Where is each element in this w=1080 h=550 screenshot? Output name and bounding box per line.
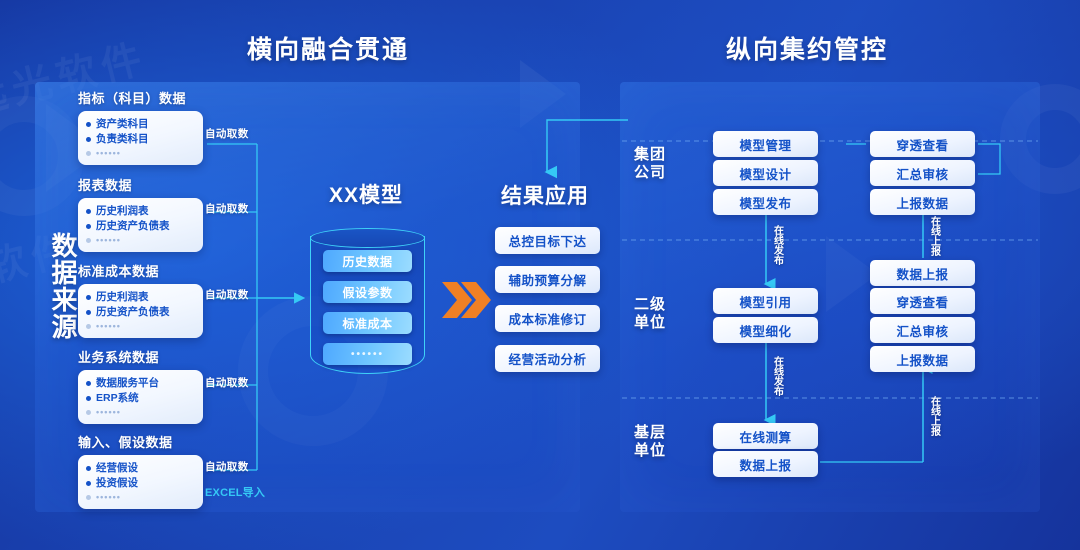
source-card[interactable]: 历史利润表 历史资产负债表 •••••• [78,198,203,252]
source-card[interactable]: 历史利润表 历史资产负债表 •••••• [78,284,203,338]
source-item-label: 历史利润表 [96,290,149,305]
source-group: 标准成本数据 历史利润表 历史资产负债表 •••••• [78,261,213,338]
bullet-icon [86,151,91,156]
source-item: 经营假设 [86,461,195,476]
source-group-title: 指标（科目）数据 [78,88,213,107]
tier-button[interactable]: 上报数据 [870,346,975,372]
flow-label-online-report: 在线上报 [928,396,939,436]
auto-fetch-label: 自动取数 [205,375,249,390]
source-item: 投资假设 [86,476,195,491]
tier-label-group-company: 集团 公司 [628,146,672,181]
result-button[interactable]: 总控目标下达 [495,227,600,254]
tier-button[interactable]: 穿透查看 [870,131,975,157]
source-item-label: 历史资产负债表 [96,305,170,320]
result-button[interactable]: 辅助预算分解 [495,266,600,293]
auto-fetch-label: 自动取数 [205,201,249,216]
model-chip[interactable]: 历史数据 [323,250,412,272]
auto-fetch-label: 自动取数 [205,287,249,302]
source-group-title: 输入、假设数据 [78,432,213,451]
tier-button[interactable]: 在线测算 [713,423,818,449]
source-item-label: •••••• [96,320,121,333]
source-item: 数据服务平台 [86,376,195,391]
source-group: 输入、假设数据 经营假设 投资假设 •••••• [78,432,213,509]
source-item: ERP系统 [86,391,195,406]
source-group: 指标（科目）数据 资产类科目 负责类科目 •••••• [78,88,213,165]
panel-vertical-control [620,82,1040,512]
bullet-icon [86,410,91,415]
source-item-label: •••••• [96,147,121,160]
result-button[interactable]: 成本标准修订 [495,305,600,332]
bullet-icon [86,310,91,315]
bullet-icon [86,224,91,229]
model-chip[interactable]: 标准成本 [323,312,412,334]
excel-import-label: EXCEL导入 [205,484,265,500]
tier-label-line: 二级 [628,296,672,314]
source-item-label: ERP系统 [96,391,139,406]
tier-label-line: 单位 [628,442,672,460]
source-item: •••••• [86,147,195,160]
tier-button[interactable]: 数据上报 [713,451,818,477]
tier-label-line: 集团 [628,146,672,164]
source-card[interactable]: 数据服务平台 ERP系统 •••••• [78,370,203,424]
bullet-icon [86,324,91,329]
source-group: 报表数据 历史利润表 历史资产负债表 •••••• [78,175,213,252]
source-item-label: 资产类科目 [96,117,149,132]
source-item: 历史利润表 [86,204,195,219]
bullet-icon [86,396,91,401]
model-cylinder: 历史数据 假设参数 标准成本 •••••• [310,228,425,378]
section-title-horizontal-integration: 横向融合贯通 [247,30,409,66]
tier-button[interactable]: 模型设计 [713,160,818,186]
tier-button[interactable]: 汇总审核 [870,160,975,186]
source-item-label: •••••• [96,491,121,504]
source-card[interactable]: 资产类科目 负责类科目 •••••• [78,111,203,165]
source-item: 历史资产负债表 [86,305,195,320]
bullet-icon [86,238,91,243]
bullet-icon [86,137,91,142]
result-button[interactable]: 经营活动分析 [495,345,600,372]
flow-label-online-publish: 在线发布 [771,225,782,265]
bullet-icon [86,209,91,214]
tier-label-line: 单位 [628,314,672,332]
bullet-icon [86,295,91,300]
bullet-icon [86,481,91,486]
source-card[interactable]: 经营假设 投资假设 •••••• [78,455,203,509]
model-chip[interactable]: •••••• [323,343,412,365]
source-group-title: 报表数据 [78,175,213,194]
bullet-icon [86,122,91,127]
flow-label-online-report: 在线上报 [928,216,939,256]
tier-button[interactable]: 模型细化 [713,317,818,343]
source-item: •••••• [86,491,195,504]
source-group-title: 业务系统数据 [78,347,213,366]
source-item: •••••• [86,320,195,333]
source-group-title: 标准成本数据 [78,261,213,280]
source-group: 业务系统数据 数据服务平台 ERP系统 •••••• [78,347,213,424]
tier-button[interactable]: 模型发布 [713,189,818,215]
source-item-label: 负责类科目 [96,132,149,147]
tier-button[interactable]: 穿透查看 [870,288,975,314]
source-item: 资产类科目 [86,117,195,132]
model-title: XX模型 [329,179,403,209]
source-item-label: 历史利润表 [96,204,149,219]
orange-double-chevron-icon [440,279,492,321]
source-item-label: 历史资产负债表 [96,219,170,234]
tier-label-second-level: 二级 单位 [628,296,672,331]
source-item-label: 投资假设 [96,476,138,491]
source-item-label: 经营假设 [96,461,138,476]
source-item: 历史资产负债表 [86,219,195,234]
auto-fetch-label: 自动取数 [205,126,249,141]
tier-button[interactable]: 模型管理 [713,131,818,157]
model-chip[interactable]: 假设参数 [323,281,412,303]
cylinder-top-ellipse [310,228,425,248]
bullet-icon [86,466,91,471]
tier-label-line: 公司 [628,164,672,182]
data-source-label: 数据来源 [42,232,76,340]
bullet-icon [86,381,91,386]
tier-label-line: 基层 [628,424,672,442]
tier-button[interactable]: 数据上报 [870,260,975,286]
tier-button[interactable]: 模型引用 [713,288,818,314]
source-item-label: •••••• [96,406,121,419]
section-title-vertical-control: 纵向集约管控 [726,30,888,66]
tier-label-base-level: 基层 单位 [628,424,672,459]
results-title: 结果应用 [501,180,589,210]
source-item-label: 数据服务平台 [96,376,159,391]
flow-label-online-publish: 在线发布 [771,356,782,396]
auto-fetch-label: 自动取数 [205,459,249,474]
source-item: 负责类科目 [86,132,195,147]
tier-button[interactable]: 上报数据 [870,189,975,215]
tier-button[interactable]: 汇总审核 [870,317,975,343]
source-item: •••••• [86,406,195,419]
source-item: 历史利润表 [86,290,195,305]
bullet-icon [86,495,91,500]
source-item-label: •••••• [96,234,121,247]
source-item: •••••• [86,234,195,247]
